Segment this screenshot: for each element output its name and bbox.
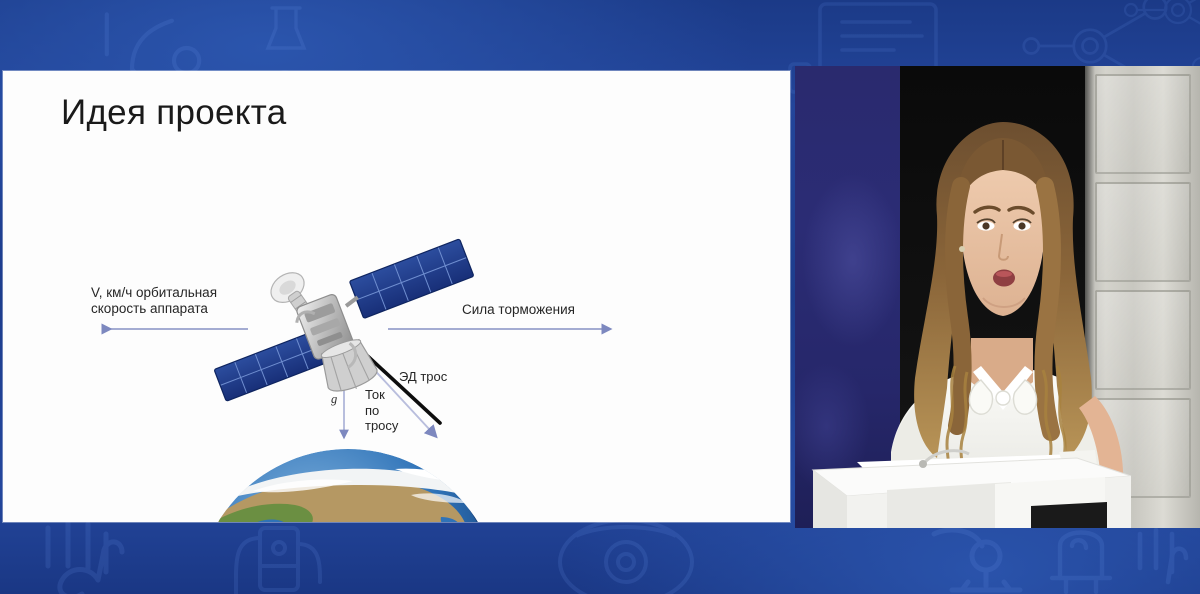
tether-label: ЭД трос <box>399 369 447 385</box>
screen-root: Идея проекта <box>0 0 1200 594</box>
podium <box>795 66 1200 528</box>
current-label: Токпотросу <box>365 387 398 434</box>
presentation-slide[interactable]: Идея проекта <box>3 71 790 522</box>
satellite-illustration <box>190 208 496 434</box>
presenter-video-feed[interactable] <box>795 66 1200 528</box>
gravity-label: g <box>331 391 337 407</box>
drag-force-label: Сила торможения <box>462 302 575 318</box>
earth-globe <box>196 449 563 522</box>
velocity-label: V, км/ч орбитальнаяскорость аппарата <box>91 285 217 317</box>
